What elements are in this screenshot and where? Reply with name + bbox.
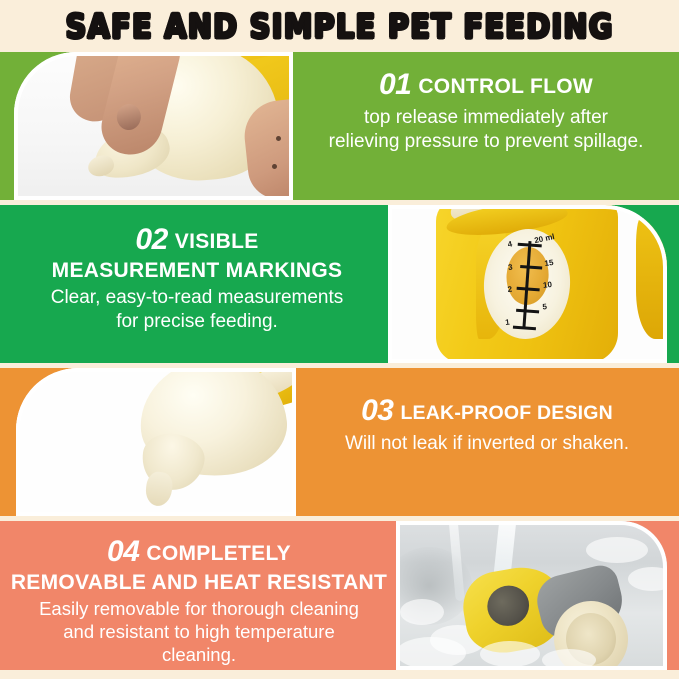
measurement-window: 20 ml 15 10 5 4 3 2 1 (480, 226, 573, 342)
feature-photo-04 (396, 521, 667, 670)
feature-number-04: 04 (107, 535, 139, 569)
feature-heading-label-03: LEAK-PROOF DESIGN (400, 402, 613, 424)
feature-row-02: 20 ml 15 10 5 4 3 2 1 02VISIBLE MEASUREM… (0, 205, 679, 363)
description-line: Will not leak if inverted or shaken. (302, 432, 672, 456)
feature-heading-03: 03LEAK-PROOF DESIGN (302, 394, 672, 428)
water-foam (586, 537, 648, 563)
water-foam (542, 649, 596, 670)
feature-photo-02: 20 ml 15 10 5 4 3 2 1 (388, 205, 667, 363)
infographic-page: SAFE AND SIMPLE PET FEEDING 01CONTROL FL… (0, 0, 679, 679)
scale-label-2: 2 (507, 285, 512, 294)
fingernail (116, 103, 143, 131)
feature-heading-label-01: CONTROL FLOW (418, 75, 593, 98)
feature-text-03: 03LEAK-PROOF DESIGN Will not leak if inv… (302, 394, 672, 456)
description-line: Clear, easy-to-read measurements (8, 286, 386, 310)
scale-label-10: 10 (543, 280, 553, 290)
feature-description-04: Easily removable for thorough cleaning a… (8, 597, 390, 666)
feature-heading-01: 01CONTROL FLOW (300, 68, 672, 102)
description-line: cleaning. (8, 643, 390, 666)
description-line: and resistant to high temperature (8, 620, 390, 643)
water-foam (396, 637, 466, 669)
feature-heading-04: 04COMPLETELY (8, 535, 390, 569)
feature-heading-label-04-line1: COMPLETELY (146, 542, 291, 565)
water-foam (480, 641, 540, 667)
feature-heading-02-line2: MEASUREMENT MARKINGS (8, 259, 386, 283)
feature-number-01: 01 (379, 68, 411, 102)
measurement-scale-icon (480, 226, 573, 342)
description-line: Easily removable for thorough cleaning (8, 597, 390, 620)
bottle-opening (481, 579, 535, 632)
feature-text-02: 02VISIBLE MEASUREMENT MARKINGS Clear, ea… (8, 223, 386, 334)
feature-text-04: 04COMPLETELY REMOVABLE AND HEAT RESISTAN… (8, 535, 390, 666)
feature-description-02: Clear, easy-to-read measurements for pre… (8, 286, 386, 334)
skin-mark (290, 156, 293, 161)
feature-photo-03 (16, 368, 296, 516)
skin-mark (272, 164, 277, 169)
title-bar: SAFE AND SIMPLE PET FEEDING (0, 0, 679, 52)
water-foam (400, 599, 444, 625)
feature-heading-02: 02VISIBLE (8, 223, 386, 257)
feature-description-01: top release immediately after relieving … (300, 106, 672, 154)
scale-label-3: 3 (508, 263, 513, 272)
feature-number-03: 03 (361, 394, 393, 428)
bottle-right-contour (636, 219, 667, 339)
feature-row-01: 01CONTROL FLOW top release immediately a… (0, 52, 679, 200)
feature-text-01: 01CONTROL FLOW top release immediately a… (300, 68, 672, 153)
scale-label-5: 5 (542, 302, 547, 311)
page-title: SAFE AND SIMPLE PET FEEDING (65, 7, 613, 46)
scale-label-1: 1 (505, 318, 510, 327)
feature-number-02: 02 (135, 223, 167, 257)
description-line: top release immediately after (300, 106, 672, 130)
scale-label-15: 15 (544, 258, 554, 268)
feature-description-03: Will not leak if inverted or shaken. (302, 432, 672, 456)
feature-row-04: 04COMPLETELY REMOVABLE AND HEAT RESISTAN… (0, 521, 679, 670)
skin-mark (276, 136, 281, 141)
feature-heading-04-line2: REMOVABLE AND HEAT RESISTANT (8, 571, 390, 595)
description-line: for precise feeding. (8, 310, 386, 334)
feature-heading-label-02-line1: VISIBLE (175, 230, 259, 253)
feature-photo-01 (14, 52, 293, 200)
description-line: relieving pressure to prevent spillage. (300, 130, 672, 154)
water-foam (628, 567, 667, 591)
feature-row-03: 03LEAK-PROOF DESIGN Will not leak if inv… (0, 368, 679, 516)
